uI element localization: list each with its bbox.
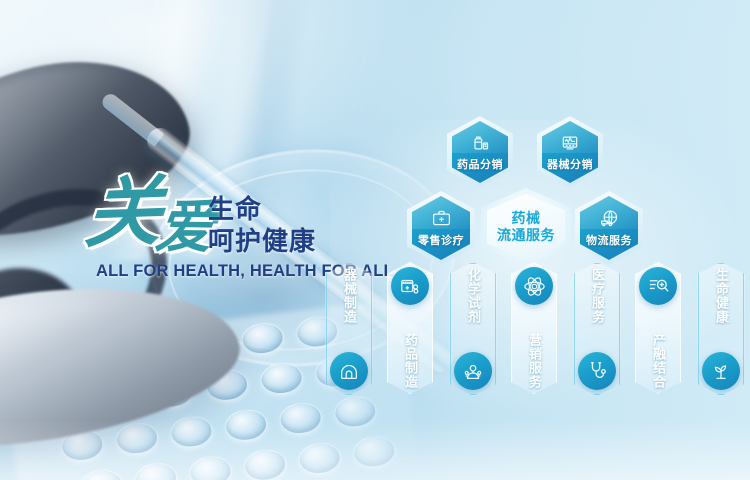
pillar-label: 产融结合 bbox=[651, 333, 665, 389]
pillar-content: 器械制造 bbox=[330, 263, 368, 395]
hex-node-medicine-distribution[interactable]: 药品分销 bbox=[452, 121, 508, 183]
pillar-content: 医疗服务 bbox=[578, 263, 616, 395]
pillar-life-health[interactable]: 生命健康 bbox=[697, 262, 745, 396]
slogan-line-1: 生命 bbox=[208, 194, 316, 226]
medical-kit-icon bbox=[431, 208, 452, 229]
pillar-content: 营销服务 bbox=[515, 262, 553, 394]
factory-arch-icon bbox=[330, 352, 368, 390]
hex-label: 器械分销 bbox=[547, 156, 593, 172]
hex-center-label-line2: 流通服务 bbox=[497, 227, 555, 245]
calligraphy-char-2: 爱 bbox=[153, 197, 215, 256]
well bbox=[240, 321, 285, 357]
pillar-label: 药品制造 bbox=[403, 333, 417, 389]
pillar-content: 产融结合 bbox=[639, 262, 677, 394]
health-banner: 关爱 生命 呵护健康 ALL FOR HEALTH, HEALTH FOR AL… bbox=[0, 0, 750, 480]
slogan-line-2: 呵护健康 bbox=[208, 226, 316, 258]
stethoscope-icon bbox=[578, 352, 616, 390]
flask-gear-icon bbox=[454, 352, 492, 390]
slogan-subtitle: 生命 呵护健康 bbox=[208, 194, 316, 257]
sprout-icon bbox=[702, 352, 740, 390]
calligraphy-char-1: 关 bbox=[82, 167, 162, 258]
pillar-content: 生命健康 bbox=[702, 263, 740, 395]
pillar-medical-service[interactable]: 医疗服务 bbox=[573, 262, 621, 396]
hex-label: 药品分销 bbox=[457, 156, 503, 172]
hex-node-device-distribution[interactable]: 器械分销 bbox=[542, 121, 598, 183]
monitor-device-icon bbox=[560, 133, 580, 153]
hex-center-label: 药械 流通服务 bbox=[497, 210, 555, 245]
pillar-industry-finance[interactable]: 产融结合 bbox=[635, 262, 681, 394]
hex-label: 物流服务 bbox=[586, 232, 632, 248]
pillar-label: 器械制造 bbox=[342, 268, 356, 324]
pillar-label: 化学试剂 bbox=[466, 268, 480, 324]
pillar-drug-manufacturing[interactable]: 药品制造 bbox=[387, 262, 433, 394]
pillar-label: 营销服务 bbox=[527, 333, 541, 389]
hex-center-label-line1: 药械 bbox=[497, 210, 555, 228]
pillar-device-manufacturing[interactable]: 器械制造 bbox=[325, 262, 373, 396]
pillar-label: 医疗服务 bbox=[590, 268, 604, 324]
pillar-row: 器械制造 bbox=[325, 262, 745, 394]
pillar-marketing-service[interactable]: 营销服务 bbox=[511, 262, 557, 394]
hex-node-retail-clinic[interactable]: 零售诊疗 bbox=[412, 196, 470, 260]
pillar-content: 化学试剂 bbox=[454, 263, 492, 395]
hex-label: 零售诊疗 bbox=[418, 232, 464, 248]
hex-node-logistics-service[interactable]: 物流服务 bbox=[580, 196, 638, 260]
medicine-bottle-icon bbox=[470, 133, 490, 153]
globe-truck-icon bbox=[599, 208, 620, 229]
pill-box-icon bbox=[391, 267, 429, 305]
pillar-content: 药品制造 bbox=[391, 262, 429, 394]
finance-link-icon bbox=[639, 267, 677, 305]
calligraphy-headline: 关爱 bbox=[82, 172, 215, 252]
atom-icon bbox=[515, 267, 553, 305]
pillar-chemical-reagents[interactable]: 化学试剂 bbox=[449, 262, 497, 396]
bottom-fade-overlay bbox=[0, 420, 750, 480]
pillar-label: 生命健康 bbox=[714, 268, 728, 324]
hex-node-center-circulation-service[interactable]: 药械 流通服务 bbox=[487, 194, 565, 260]
